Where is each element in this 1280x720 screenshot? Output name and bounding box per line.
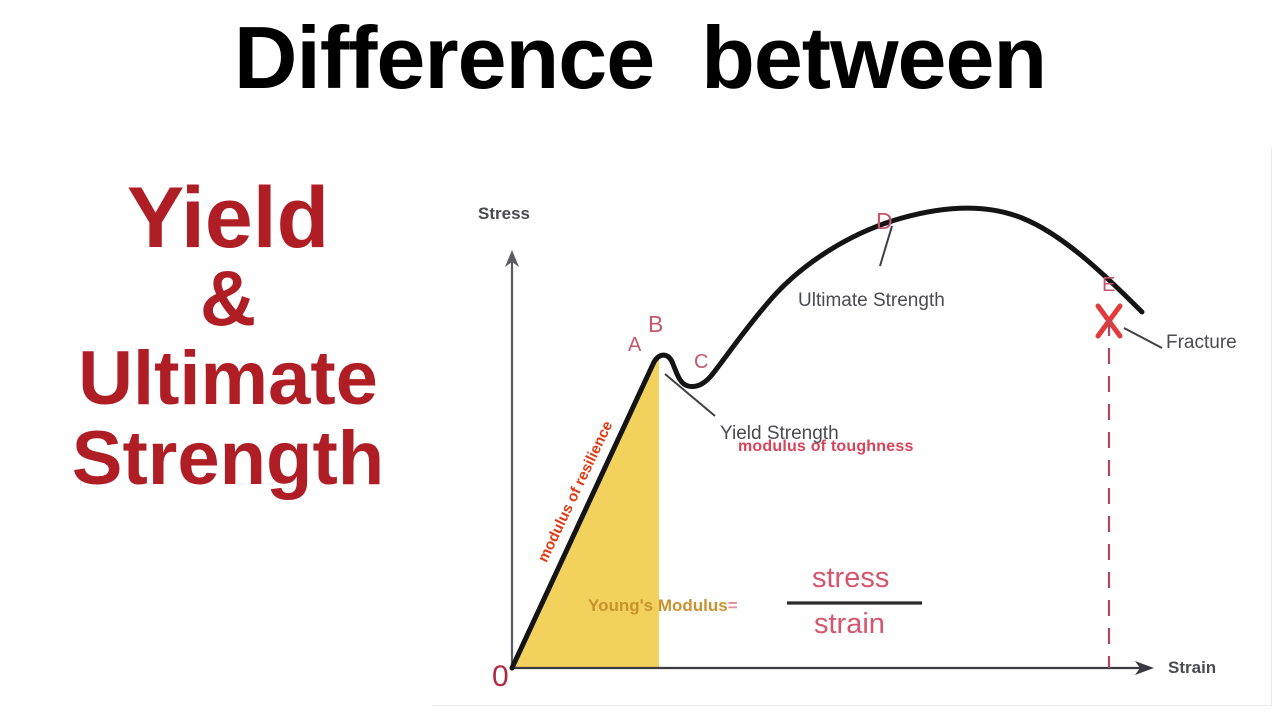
formula-numerator: stress — [812, 562, 889, 595]
origin-label: 0 — [492, 660, 509, 694]
subject-title-line-1: Yield — [8, 175, 448, 263]
ultimate-strength-callout: Ultimate Strength — [798, 290, 945, 312]
youngs-modulus-formula: Young's Modulus= — [588, 596, 738, 616]
subject-title-line-3: Ultimate — [8, 340, 448, 418]
stress-strain-diagram: Stress Strain 0 A B C D E Yield Strength… — [432, 148, 1272, 706]
subject-title-line-4: Strength — [8, 420, 448, 498]
page-title: Difference between — [0, 14, 1280, 102]
youngs-modulus-name: Young's Modulus — [588, 596, 728, 615]
y-axis-label: Stress — [478, 204, 530, 224]
point-label-c: C — [694, 351, 708, 374]
youngs-modulus-equals: = — [728, 596, 738, 615]
slide-canvas: Difference between Yield & Ultimate Stre… — [0, 0, 1280, 720]
modulus-of-toughness-label: modulus of toughness — [738, 438, 914, 456]
formula-denominator: strain — [814, 608, 885, 641]
point-label-b: B — [648, 311, 663, 338]
point-label-d: D — [876, 208, 893, 235]
x-axis-label: Strain — [1168, 658, 1216, 678]
fracture-leader-line — [1124, 328, 1162, 348]
point-label-e: E — [1102, 274, 1115, 297]
point-label-a: A — [628, 334, 641, 357]
subject-title: Yield & Ultimate Strength — [8, 175, 448, 497]
subject-title-line-2: & — [8, 259, 448, 339]
fracture-callout: Fracture — [1166, 332, 1237, 354]
